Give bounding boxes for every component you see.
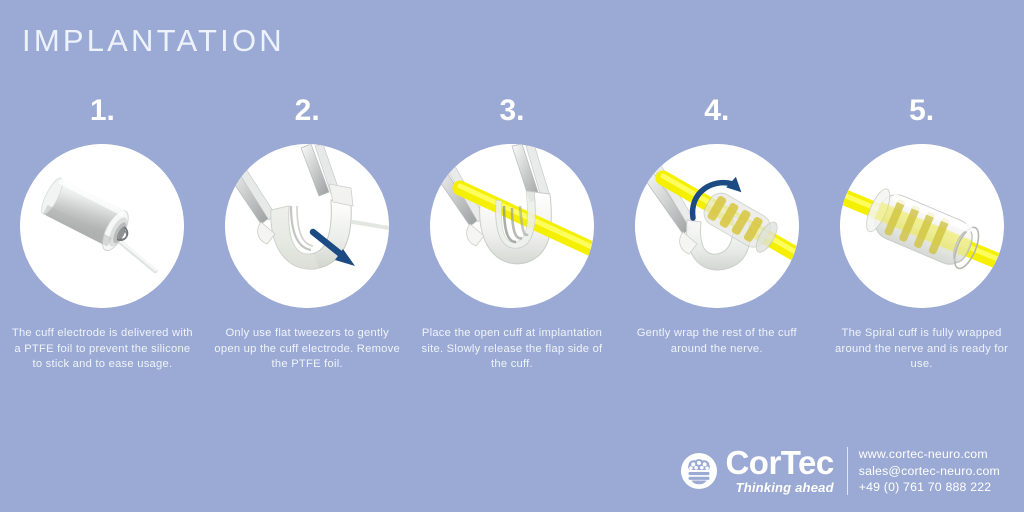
step-1-number: 1. bbox=[90, 96, 115, 130]
step-1: 1. bbox=[0, 96, 205, 373]
brand-tagline: Thinking ahead bbox=[736, 480, 834, 496]
step-5-photo bbox=[840, 144, 1004, 308]
brand-wordmark: CorTec bbox=[725, 447, 833, 479]
step-1-illustration bbox=[20, 144, 184, 308]
contact-phone[interactable]: +49 (0) 761 70 888 222 bbox=[859, 479, 1000, 496]
step-2-illustration bbox=[225, 144, 389, 308]
step-4-photo bbox=[635, 144, 799, 308]
step-2-photo bbox=[225, 144, 389, 308]
step-5-caption: The Spiral cuff is fully wrapped around … bbox=[829, 326, 1015, 373]
wrapping-cuff-around-nerve-image bbox=[635, 144, 799, 308]
step-4-number: 4. bbox=[704, 96, 729, 130]
step-3: 3. bbox=[410, 96, 615, 373]
step-2: 2. bbox=[205, 96, 410, 373]
step-4-illustration bbox=[635, 144, 799, 308]
step-3-caption: Place the open cuff at implantation site… bbox=[419, 326, 605, 373]
contact-info: www.cortec-neuro.com sales@cortec-neuro.… bbox=[859, 445, 1000, 497]
step-2-caption: Only use flat tweezers to gently open up… bbox=[214, 326, 400, 373]
step-3-illustration bbox=[430, 144, 594, 308]
open-cuff-at-implantation-site-with-nerve-image bbox=[430, 144, 594, 308]
step-1-photo bbox=[20, 144, 184, 308]
steps-row: 1. bbox=[0, 96, 1024, 373]
footer: CorTec Thinking ahead www.cortec-neuro.c… bbox=[680, 442, 1000, 500]
tweezers-opening-cuff-electrode-image bbox=[225, 144, 389, 308]
contact-website[interactable]: www.cortec-neuro.com bbox=[859, 446, 1000, 463]
step-5: 5. bbox=[819, 96, 1024, 373]
step-3-number: 3. bbox=[499, 96, 524, 130]
cortec-logo[interactable]: CorTec Thinking ahead bbox=[680, 442, 833, 500]
step-1-caption: The cuff electrode is delivered with a P… bbox=[9, 326, 195, 373]
contact-email[interactable]: sales@cortec-neuro.com bbox=[859, 463, 1000, 480]
implantation-instruction-poster: IMPLANTATION 1. bbox=[0, 0, 1024, 512]
footer-divider bbox=[847, 447, 848, 495]
page-title: IMPLANTATION bbox=[22, 25, 285, 56]
step-2-number: 2. bbox=[295, 96, 320, 130]
spiral-cuff-fully-wrapped-around-nerve-image bbox=[840, 144, 1004, 308]
step-4-caption: Gently wrap the rest of the cuff around … bbox=[624, 326, 810, 357]
step-4: 4. bbox=[614, 96, 819, 373]
brain-icon bbox=[680, 452, 718, 490]
step-5-number: 5. bbox=[909, 96, 934, 130]
rolled-cuff-electrode-with-ptfe-foil-image bbox=[20, 144, 184, 308]
step-3-photo bbox=[430, 144, 594, 308]
step-5-illustration bbox=[840, 144, 1004, 308]
